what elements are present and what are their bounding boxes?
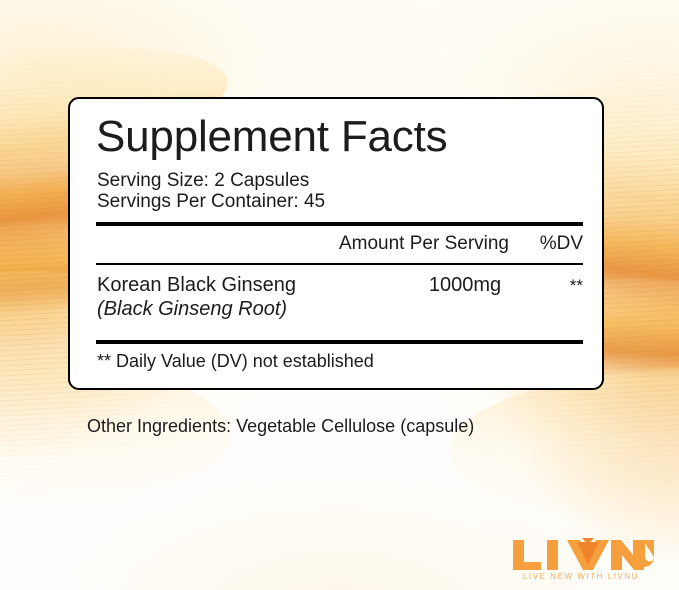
ingredient-source: (Black Ginseng Root) <box>97 297 287 321</box>
supplement-facts-panel: Supplement Facts Serving Size: 2 Capsule… <box>68 97 604 390</box>
daily-value-footnote: ** Daily Value (DV) not established <box>97 350 374 372</box>
rule-thick-bottom <box>96 340 583 344</box>
supplement-label-page: Supplement Facts Serving Size: 2 Capsule… <box>0 0 679 590</box>
column-header-percent-dv: %DV <box>517 232 583 256</box>
ingredient-percent-dv: ** <box>517 275 583 297</box>
brand-logo: LIVE NEW WITH LIVNU <box>505 538 657 584</box>
servings-per-container-text: Servings Per Container: 45 <box>97 190 325 213</box>
ingredient-name: Korean Black Ginseng <box>97 273 296 297</box>
livnu-wordmark-icon <box>505 538 657 572</box>
brand-tagline: LIVE NEW WITH LIVNU <box>506 572 656 582</box>
rule-thin-header <box>96 263 583 265</box>
rule-thick-top <box>96 222 583 226</box>
column-header-amount-per-serving: Amount Per Serving <box>339 232 509 256</box>
serving-size-text: Serving Size: 2 Capsules <box>97 169 309 192</box>
supplement-facts-content: Supplement Facts Serving Size: 2 Capsule… <box>96 99 583 388</box>
other-ingredients-text: Other Ingredients: Vegetable Cellulose (… <box>87 415 474 437</box>
supplement-facts-title: Supplement Facts <box>96 111 447 163</box>
